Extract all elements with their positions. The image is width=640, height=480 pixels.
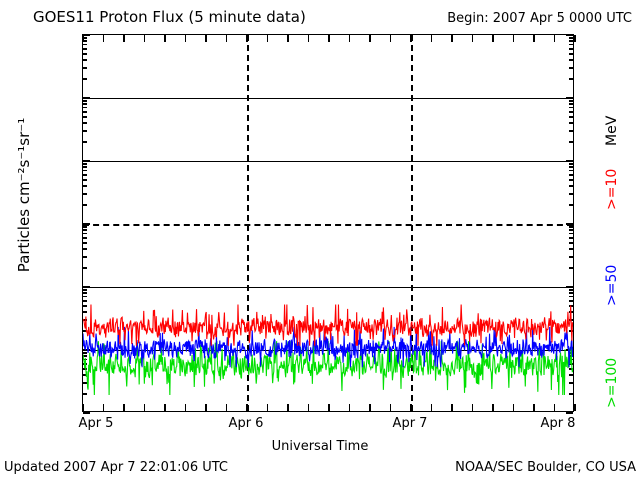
y-tick-major — [83, 412, 90, 413]
y-axis-label: Particles cm⁻²s⁻¹sr⁻¹ — [15, 85, 33, 305]
x-axis-label: Universal Time — [0, 439, 640, 454]
plot-area — [82, 34, 574, 412]
x-tick-label: Apr 5 — [79, 416, 114, 431]
legend-unit-mev: MeV — [604, 116, 620, 146]
legend-ge10-label: >=10 — [604, 169, 620, 210]
data-series-layer — [83, 35, 573, 411]
x-tick-label: Apr 6 — [229, 416, 264, 431]
x-tick — [574, 404, 575, 411]
x-tick — [574, 35, 575, 42]
x-tick-label: Apr 7 — [393, 416, 428, 431]
chart-title: GOES11 Proton Flux (5 minute data) — [33, 8, 306, 26]
legend-ge100-label: >=100 — [604, 358, 620, 408]
data-source-label: NOAA/SEC Boulder, CO USA — [455, 460, 636, 475]
y-tick-major — [566, 412, 573, 413]
x-tick-label: Apr 8 — [541, 416, 576, 431]
updated-timestamp: Updated 2007 Apr 7 22:01:06 UTC — [4, 460, 228, 475]
legend-ge50-label: >=50 — [604, 265, 620, 306]
begin-time-label: Begin: 2007 Apr 5 0000 UTC — [447, 11, 632, 26]
